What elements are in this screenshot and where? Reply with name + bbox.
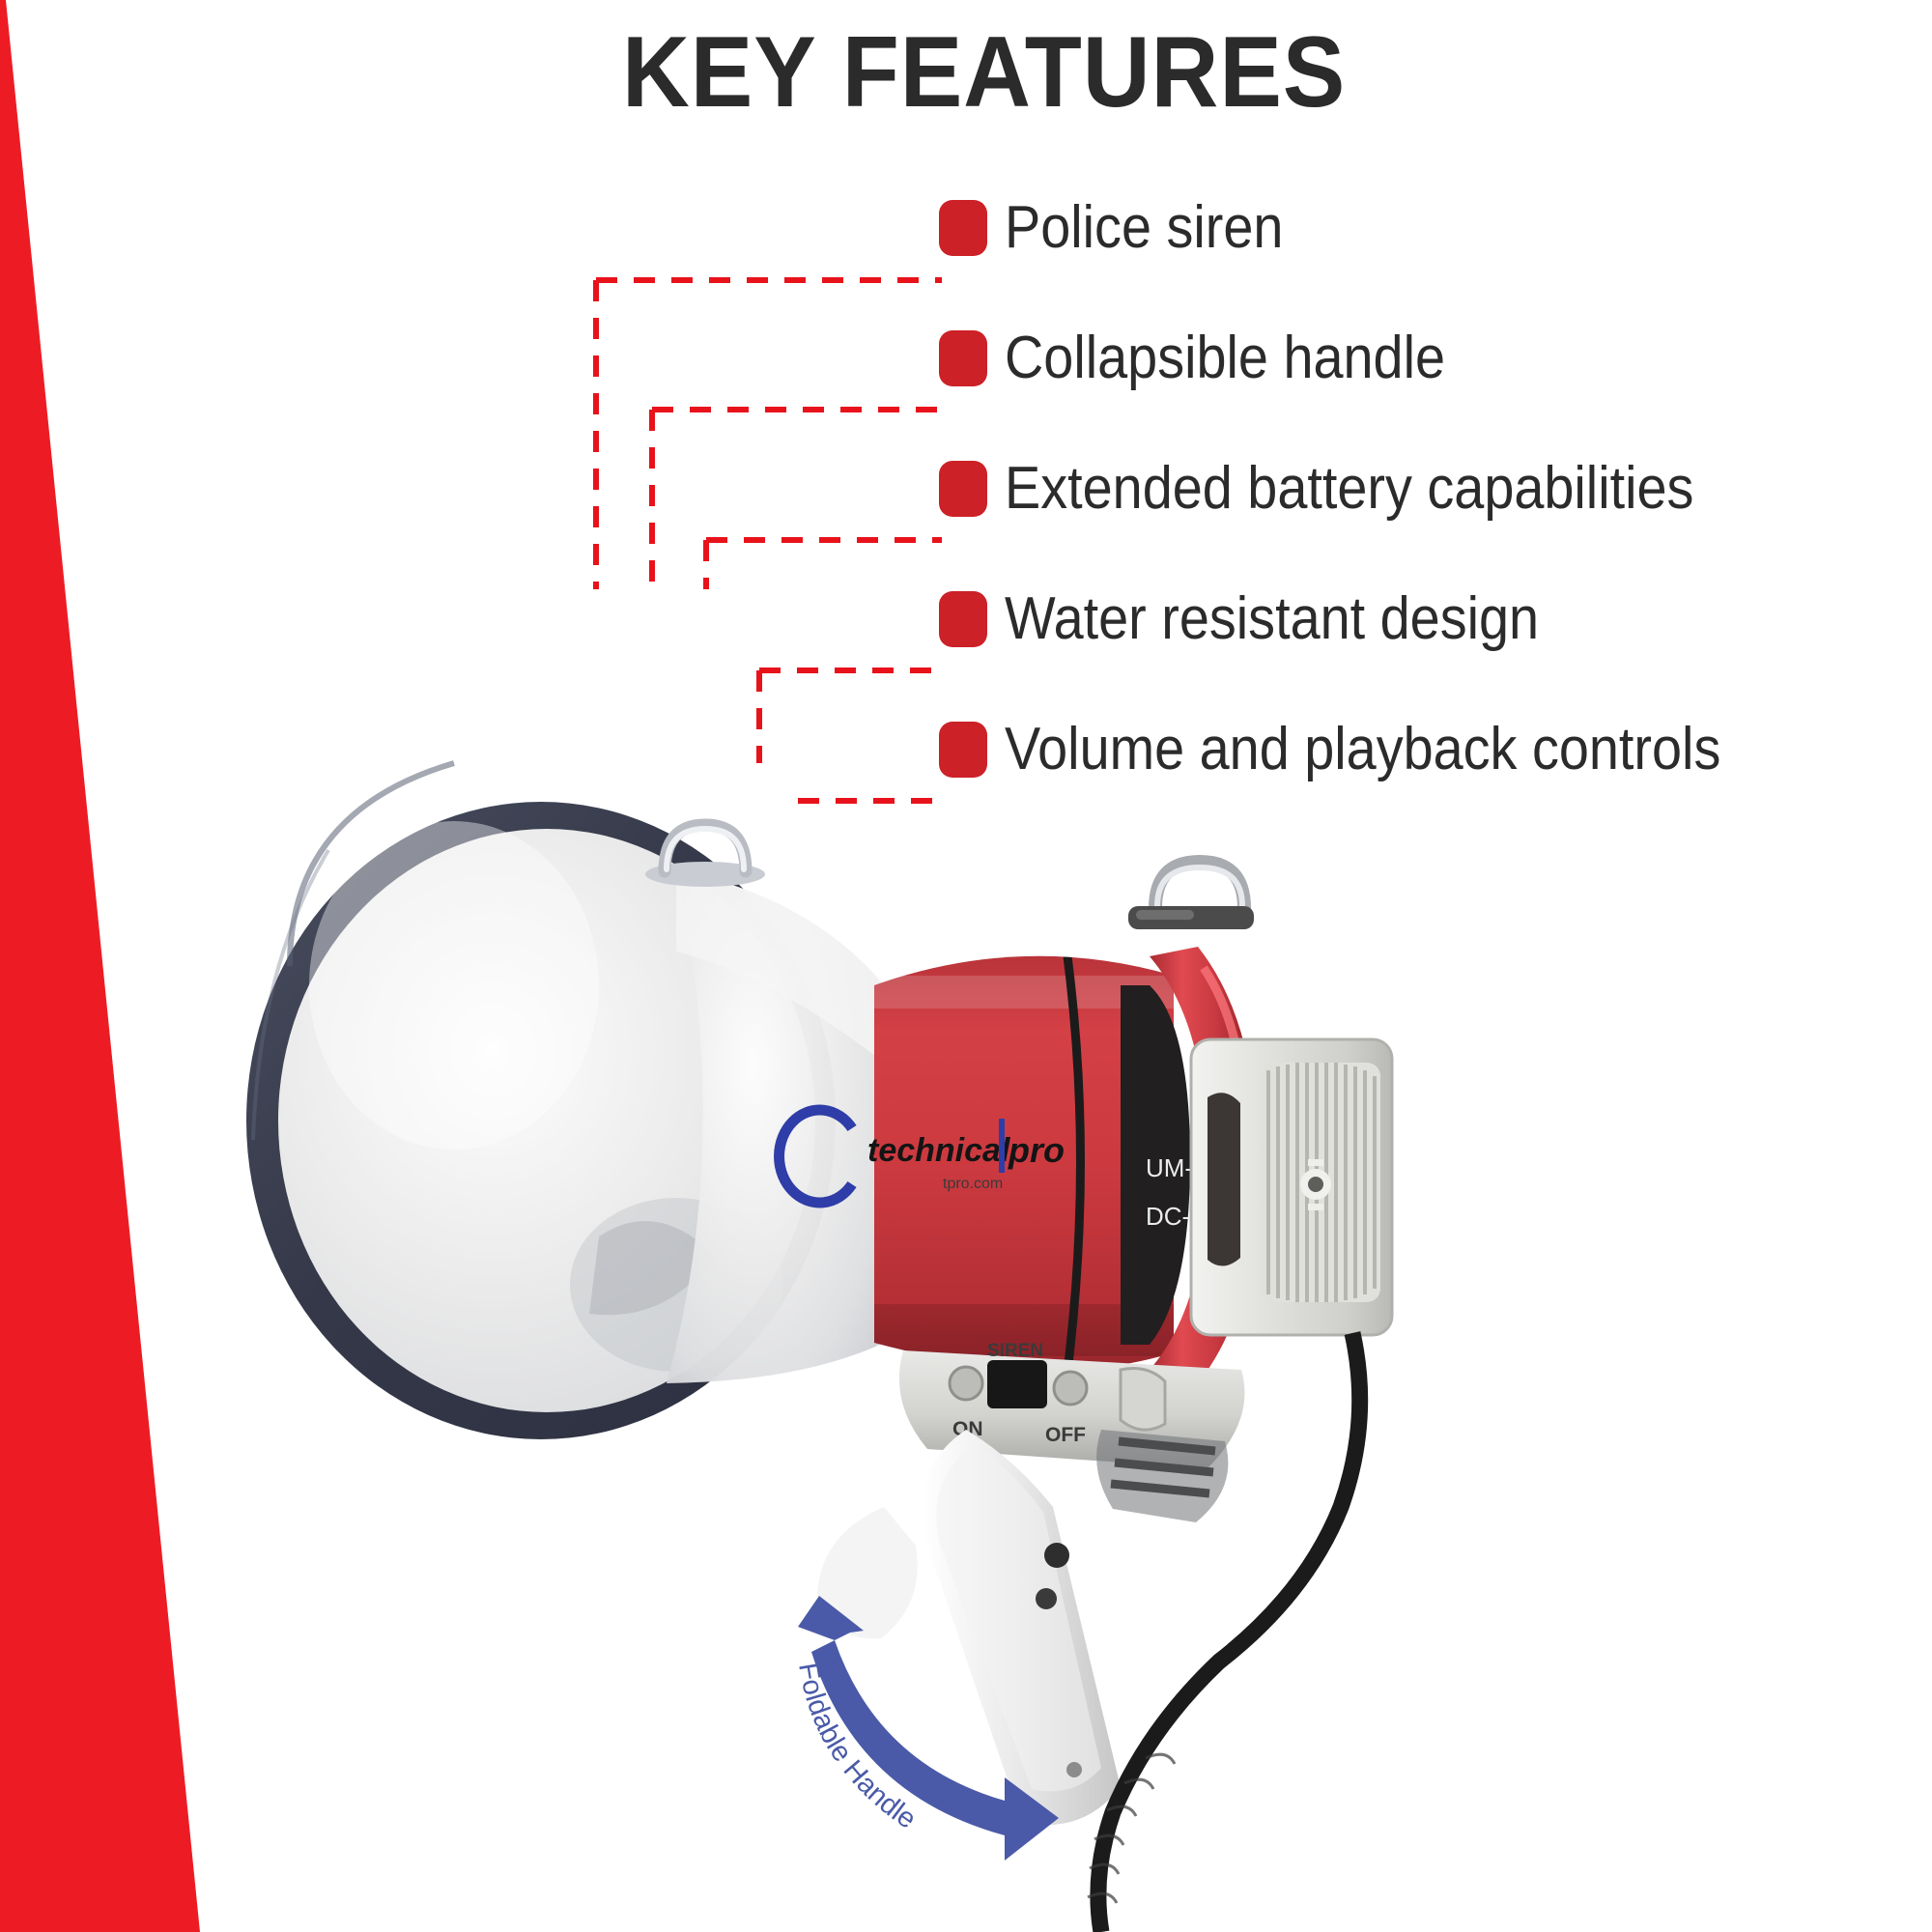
infographic-canvas: technical pro tpro.com UM-2 DC-1	[0, 0, 1932, 1932]
feature-marker-icon	[939, 591, 987, 647]
feature-item-volume-playback[interactable]: Volume and playback controls	[939, 711, 1801, 788]
feature-label: Police siren	[1005, 198, 1283, 258]
svg-text:SIREN: SIREN	[987, 1341, 1043, 1361]
feature-marker-icon	[939, 330, 987, 386]
feature-item-extended-battery[interactable]: Extended battery capabilities	[939, 450, 1771, 527]
svg-text:tpro.com: tpro.com	[943, 1176, 1003, 1192]
svg-text:OFF: OFF	[1045, 1424, 1086, 1446]
svg-text:pro: pro	[1008, 1130, 1065, 1170]
feature-item-police-siren[interactable]: Police siren	[939, 189, 1314, 267]
feature-marker-icon	[939, 722, 987, 778]
feature-label: Water resistant design	[1005, 589, 1539, 649]
feature-marker-icon	[939, 461, 987, 517]
page-title: KEY FEATURES	[68, 15, 1864, 130]
feature-label: Collapsible handle	[1005, 328, 1445, 388]
svg-text:technical: technical	[867, 1132, 1011, 1169]
top-collapsible-handle	[1128, 862, 1254, 929]
feature-marker-icon	[939, 200, 987, 256]
feature-label: Volume and playback controls	[1005, 720, 1720, 780]
feature-item-collapsible-handle[interactable]: Collapsible handle	[939, 320, 1494, 397]
feature-label: Extended battery capabilities	[1005, 459, 1693, 519]
foldable-handle-annotation: Foldable Handle	[763, 1594, 1092, 1922]
feature-item-water-resistant[interactable]: Water resistant design	[939, 581, 1599, 658]
battery-microphone-housing	[1191, 1039, 1392, 1335]
